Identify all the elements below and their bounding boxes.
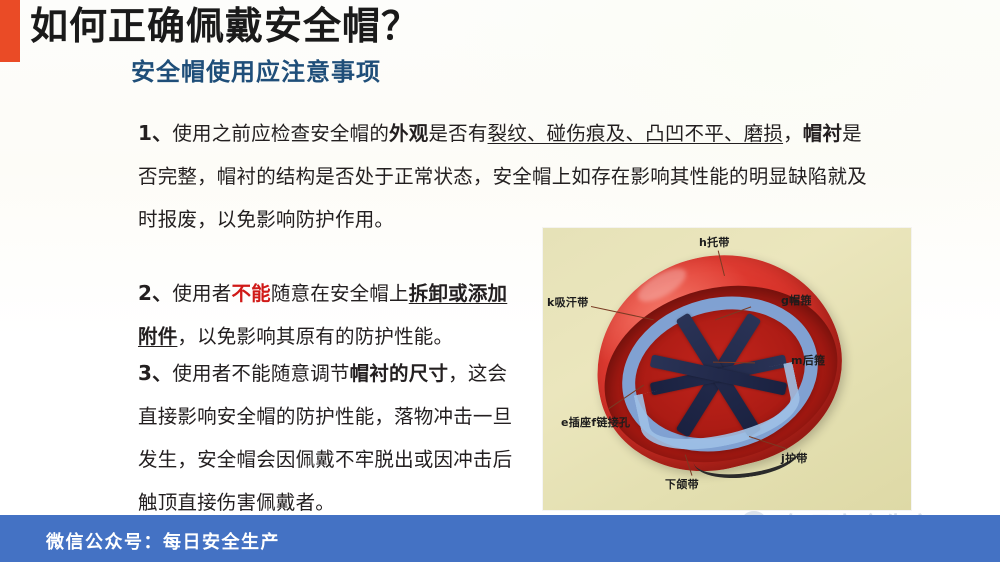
slide-canvas: 如何正确佩戴安全帽？ 安全帽使用应注意事项 1、使用之前应检查安全帽的外观是否有… xyxy=(0,0,1000,562)
paragraph-number: 1、 xyxy=(138,121,172,145)
photo-label-chin-strap: 下颌带 xyxy=(665,476,699,492)
text-segment: ，以免影响其原有的防护性能。 xyxy=(177,325,453,348)
text-segment: 使用之前应检查安全帽的 xyxy=(172,122,389,145)
photo-label-k: k吸汗带 xyxy=(547,294,589,310)
text-segment: 裂纹、碰伤痕及、凸凹不平、磨损 xyxy=(488,122,784,145)
helmet-illustration: h托带 k吸汗带 g帽箍 m后箍 e插座f链接孔 j护带 下颌带 xyxy=(543,228,911,510)
paragraph-number: 3、 xyxy=(138,361,172,385)
paragraph-2: 2、使用者不能随意在安全帽上拆卸或添加附件，以免影响其原有的防护性能。 xyxy=(138,272,523,358)
text-segment: 帽衬的尺寸 xyxy=(350,362,449,385)
paragraph-1: 1、使用之前应检查安全帽的外观是否有裂纹、碰伤痕及、凸凹不平、磨损，帽衬是否完整… xyxy=(138,112,878,241)
text-segment: 帽衬 xyxy=(803,122,842,145)
helmet-photo: h托带 k吸汗带 g帽箍 m后箍 e插座f链接孔 j护带 下颌带 xyxy=(543,228,911,510)
paragraph-number: 2、 xyxy=(138,281,172,305)
photo-label-g: g帽箍 xyxy=(781,292,812,308)
page-subtitle: 安全帽使用应注意事项 xyxy=(131,52,381,87)
photo-label-e: e插座f链接孔 xyxy=(561,414,630,430)
text-segment: 是否有 xyxy=(428,122,487,145)
text-segment: 不能 xyxy=(231,282,270,305)
footer-text: 微信公众号：每日安全生产 xyxy=(46,528,280,554)
text-segment: 外观 xyxy=(389,122,428,145)
photo-label-j: j护带 xyxy=(781,450,808,466)
photo-label-m: m后箍 xyxy=(791,352,825,368)
text-segment: ， xyxy=(783,122,803,145)
text-segment: 随意在安全帽上 xyxy=(271,282,409,305)
paragraph-3: 3、使用者不能随意调节帽衬的尺寸，这会直接影响安全帽的防护性能，落物冲击一旦发生… xyxy=(138,352,523,524)
accent-bar xyxy=(0,0,20,62)
footer-bar: 微信公众号：每日安全生产 xyxy=(0,515,1000,562)
page-title: 如何正确佩戴安全帽？ xyxy=(30,5,420,49)
text-segment: 使用者不能随意调节 xyxy=(172,362,349,385)
photo-label-h: h托带 xyxy=(699,234,730,250)
text-segment: 使用者 xyxy=(172,282,231,305)
